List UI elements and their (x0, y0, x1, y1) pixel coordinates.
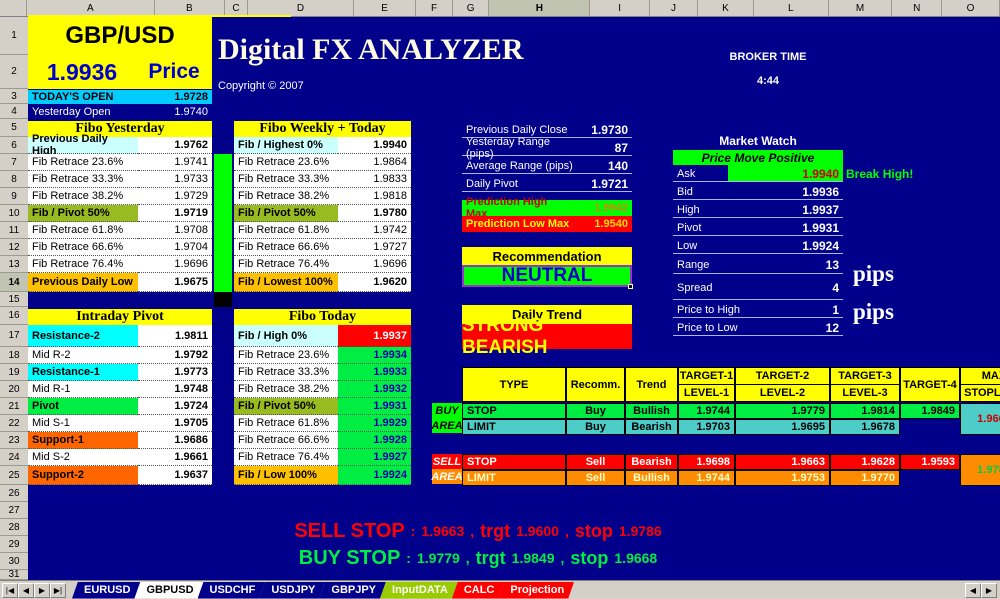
row-value: 1.9933 (338, 364, 411, 381)
sheet-tab-projection[interactable]: Projection (498, 582, 574, 599)
table-row: Pivot1.9931 (673, 219, 843, 236)
row-header-22[interactable]: 22 (0, 415, 28, 432)
row-header-12[interactable]: 12 (0, 239, 28, 256)
signal-cell (900, 419, 960, 435)
signal-cell: 1.9849 (900, 403, 960, 419)
col-header-O[interactable]: O (942, 0, 1000, 16)
signal-header-target3: TARGET-3 (830, 367, 900, 385)
row-label: Low (673, 237, 773, 254)
row-label: Ask (673, 165, 773, 182)
table-row: Fib / Lowest 100%1.9620 (234, 273, 411, 292)
row-label: Fib Retrace 66.6% (28, 239, 138, 256)
table-row: High1.9937 (673, 201, 843, 218)
row-header-11[interactable]: 11 (0, 222, 28, 239)
row-value: 1.9780 (338, 205, 411, 222)
todays-open-value: 1.9728 (138, 90, 212, 104)
signal-cell: Buy (566, 419, 625, 435)
row-header-19[interactable]: 19 (0, 364, 28, 381)
row-header-25[interactable]: 25 (0, 466, 28, 485)
col-header-G[interactable]: G (453, 0, 490, 16)
sell-area-label-line1: SELL (432, 454, 462, 469)
daily-trend-value: STRONG BEARISH (462, 324, 632, 349)
market-watch-banner: Price Move Positive (673, 150, 843, 165)
row-value: 1.9927 (338, 449, 411, 466)
col-header-E[interactable]: E (354, 0, 417, 16)
scroll-right-button[interactable]: ▶ (981, 583, 997, 598)
sheet-tab-gbpusd[interactable]: GBPUSD (134, 582, 203, 599)
row-value: 1.9931 (338, 398, 411, 415)
row-header-24[interactable]: 24 (0, 449, 28, 466)
table-row: Previous Daily Low1.9675 (28, 273, 212, 292)
table-row: Fib Retrace 33.3%1.9933 (234, 364, 411, 381)
row-label: Fib Retrace 61.8% (234, 415, 338, 432)
row-header-10[interactable]: 10 (0, 205, 28, 222)
row-value: 1.9637 (138, 466, 212, 485)
table-row: Fib Retrace 33.3%1.9733 (28, 171, 212, 188)
table-row: Fib / Pivot 50%1.9931 (234, 398, 411, 415)
row-header-5[interactable]: 5 (0, 119, 28, 137)
worksheet-grid[interactable]: GBP/USD 1.9936 Price Digital FX ANALYZER… (28, 17, 1000, 580)
row-header-27[interactable]: 27 (0, 502, 28, 519)
table-row: Low1.9924 (673, 237, 843, 254)
signal-cell: 1.9678 (830, 419, 900, 435)
selection-underline (28, 15, 291, 17)
row-header-23[interactable]: 23 (0, 432, 28, 449)
sell-target-price: 1.9600 (516, 523, 559, 539)
row-label: Fib Retrace 23.6% (28, 154, 138, 171)
prediction-high-value: 1.9942 (575, 200, 632, 216)
buy-target-price: 1.9849 (512, 550, 555, 566)
row-value: 1.9931 (773, 219, 843, 236)
row-label: Fib Retrace 38.2% (234, 188, 338, 205)
row-label: Support-1 (28, 432, 138, 449)
table-row: Support-11.9686 (28, 432, 212, 449)
row-value: 1.9705 (138, 415, 212, 432)
table-row: Fib Retrace 61.8%1.9929 (234, 415, 411, 432)
sell-comma-1: , (470, 523, 474, 539)
prediction-low-value: 1.9540 (575, 216, 632, 232)
table-row: Fib Retrace 66.6%1.9928 (234, 432, 411, 449)
row-header-1[interactable]: 1 (0, 17, 28, 55)
row-value: 1.9762 (138, 137, 212, 154)
signal-header-level1: LEVEL-1 (678, 385, 735, 402)
row-label: Fib Retrace 33.3% (234, 364, 338, 381)
broker-time-label: BROKER TIME (708, 49, 828, 65)
row-label: Fib Retrace 38.2% (28, 188, 138, 205)
sell-entry-price: 1.9663 (421, 523, 464, 539)
signal-cell: Bearish (625, 454, 678, 470)
table-row: Fib / Low 100%1.9924 (234, 466, 411, 485)
prediction-high-label: Prediction High Max (462, 200, 575, 216)
signal-header-level3: LEVEL-3 (830, 385, 900, 402)
signal-cell: Bullish (625, 403, 678, 419)
row-value: 1.9704 (138, 239, 212, 256)
row-header-16[interactable]: 16 (0, 307, 28, 325)
scroll-left-button[interactable]: ◀ (965, 583, 981, 598)
signal-cell: LIMIT (462, 470, 566, 486)
row-value: 1.9675 (138, 273, 212, 292)
signal-cell (900, 470, 960, 486)
tab-scroll-buttons: ◀ ▶ (965, 583, 1000, 598)
row-header-4[interactable]: 4 (0, 104, 28, 119)
row-header-18[interactable]: 18 (0, 347, 28, 364)
row-header-30[interactable]: 30 (0, 553, 28, 570)
market-watch-break-note: Break High! (846, 165, 936, 182)
row-value: 87 (577, 139, 632, 156)
row-label: Previous Daily High (28, 137, 138, 154)
sell-comma-2: , (565, 523, 569, 539)
table-row: Fib / Pivot 50%1.9780 (234, 205, 411, 222)
black-separator-cell (214, 292, 232, 307)
buy-stoploss-label: stop (570, 548, 608, 569)
row-value: 1.9940 (773, 165, 843, 182)
row-label: Fib Retrace 66.6% (234, 432, 338, 449)
selection-handle[interactable] (628, 284, 633, 289)
row-value: 1.9696 (138, 256, 212, 273)
row-header-31[interactable]: 31 (0, 570, 28, 580)
row-label: High (673, 201, 773, 218)
col-header-I[interactable]: I (590, 0, 650, 16)
row-value: 1.9818 (338, 188, 411, 205)
table-row: Fib / Highest 0%1.9940 (234, 137, 411, 154)
buy-comma-1: , (466, 550, 470, 566)
col-header-N[interactable]: N (892, 0, 942, 16)
signal-cell: 1.9814 (830, 403, 900, 419)
market-watch-title: Market Watch (673, 133, 843, 149)
row-value: 1.9620 (338, 273, 411, 292)
col-header-K[interactable]: K (698, 0, 754, 16)
signal-cell: Bearish (625, 419, 678, 435)
row-label: Fib Retrace 61.8% (234, 222, 338, 239)
sell-stoploss-label: stop (575, 521, 613, 542)
table-row: Fib Retrace 23.6%1.9741 (28, 154, 212, 171)
currency-pair-title: GBP/USD (28, 17, 212, 55)
buy-area-label-line2: AREA (432, 418, 462, 433)
buy-area-label-line1: BUY (432, 403, 462, 418)
row-label: Mid S-2 (28, 449, 138, 466)
buy-entry-price: 1.9779 (417, 550, 460, 566)
row-value: 1.9721 (577, 175, 632, 192)
row-label: Fib Retrace 76.4% (28, 256, 138, 273)
sell-stop-label: SELL STOP (294, 520, 404, 543)
col-header-F[interactable]: F (416, 0, 453, 16)
price-value: 1.9936 (32, 55, 132, 89)
table-row: Fib Retrace 66.6%1.9727 (234, 239, 411, 256)
row-label: Previous Daily Low (28, 273, 138, 292)
signal-header-level2: LEVEL-2 (735, 385, 830, 402)
table-row: Fib Retrace 76.4%1.9927 (234, 449, 411, 466)
fibo-weekly-title: Fibo Weekly + Today (234, 121, 411, 137)
row-value: 1.9864 (338, 154, 411, 171)
table-row: Mid S-21.9661 (28, 449, 212, 466)
recommendation-title: Recommendation (462, 247, 632, 265)
table-row: Mid S-11.9705 (28, 415, 212, 432)
tab-nav-buttons: |◀ ◀ ▶ ▶| (0, 583, 66, 598)
buy-comma-2: , (561, 550, 565, 566)
table-row: Average Range (pips)140 (462, 157, 632, 174)
row-header-14[interactable]: 14 (0, 273, 28, 292)
row-label: Fib / Lowest 100% (234, 273, 338, 292)
row-label: Fib Retrace 33.3% (28, 171, 138, 188)
signal-header-trend: Trend (625, 367, 678, 402)
row-label: Mid S-1 (28, 415, 138, 432)
table-row: Price to High1 (673, 301, 843, 318)
table-row: Previous Daily High1.9762 (28, 137, 212, 154)
sheet-tab-gbpjpy[interactable]: GBPJPY (319, 582, 386, 599)
buy-stop-summary: BUY STOP:1.9779,trgt1.9849,stop1.9668 (228, 546, 728, 570)
first-sheet-button[interactable]: |◀ (2, 583, 18, 598)
row-label: Fib Retrace 66.6% (234, 239, 338, 256)
table-row: Fib Retrace 38.2%1.9818 (234, 188, 411, 205)
row-value: 1.9929 (338, 415, 411, 432)
pips-label-price: pips (853, 299, 894, 325)
row-label: Support-2 (28, 466, 138, 485)
row-header-20[interactable]: 20 (0, 381, 28, 398)
row-label: Pivot (28, 398, 138, 415)
row-value: 1.9937 (338, 325, 411, 347)
select-all-corner[interactable] (0, 0, 27, 16)
row-value: 12 (773, 319, 843, 336)
row-label: Range (673, 255, 773, 274)
table-row: Daily Pivot1.9721 (462, 175, 632, 192)
row-value: 1.9741 (138, 154, 212, 171)
table-row: Fib Retrace 38.2%1.9729 (28, 188, 212, 205)
row-label: Fib Retrace 23.6% (234, 154, 338, 171)
table-row: Fib Retrace 38.2%1.9932 (234, 381, 411, 398)
table-row: Fib Retrace 23.6%1.9934 (234, 347, 411, 364)
signal-cell: Bullish (625, 470, 678, 486)
row-value: 1.9708 (138, 222, 212, 239)
table-row: Yesterday Range (pips)87 (462, 139, 632, 156)
row-value: 1.9686 (138, 432, 212, 449)
row-header-21[interactable]: 21 (0, 398, 28, 415)
row-header-2[interactable]: 2 (0, 55, 28, 89)
row-value: 1.9727 (338, 239, 411, 256)
col-header-D[interactable]: D (248, 0, 354, 16)
row-value: 1.9730 (577, 121, 632, 138)
sell-stoploss-price: 1.9786 (619, 523, 662, 539)
col-header-M[interactable]: M (829, 0, 892, 16)
yesterday-open-value: 1.9740 (138, 105, 212, 119)
row-header-29[interactable]: 29 (0, 536, 28, 553)
signal-cell: 1.9593 (900, 454, 960, 470)
todays-open-label: TODAY'S OPEN (28, 90, 138, 104)
row-value: 1.9928 (338, 432, 411, 449)
table-row: Bid1.9936 (673, 183, 843, 200)
row-label: Fib Retrace 23.6% (234, 347, 338, 364)
table-row: Fib Retrace 61.8%1.9708 (28, 222, 212, 239)
row-label: Price to Low (673, 319, 773, 336)
row-value: 13 (773, 255, 843, 274)
pips-label-range: pips (853, 261, 894, 287)
row-header-17[interactable]: 17 (0, 325, 28, 347)
row-value: 1.9924 (773, 237, 843, 254)
signal-cell: 1.9695 (735, 419, 830, 435)
signal-cell: STOP (462, 403, 566, 419)
table-row: Fib Retrace 76.4%1.9696 (28, 256, 212, 273)
col-header-H[interactable]: H (489, 0, 590, 16)
sell-colon: : (411, 523, 416, 539)
row-label: Fib Retrace 76.4% (234, 449, 338, 466)
row-value: 1.9940 (338, 137, 411, 154)
row-label: Bid (673, 183, 773, 200)
row-value: 1.9729 (138, 188, 212, 205)
row-value: 1.9924 (338, 466, 411, 485)
table-row: Range13 (673, 255, 843, 274)
row-header-26[interactable]: 26 (0, 485, 28, 502)
sheet-tab-usdchf[interactable]: USDCHF (198, 582, 266, 599)
row-value: 1.9792 (138, 347, 212, 364)
signal-header-stoploss: STOPLOSS (960, 385, 1000, 402)
sell-stop-summary: SELL STOP:1.9663,trgt1.9600,stop1.9786 (228, 519, 728, 543)
prediction-low-label: Prediction Low Max (462, 216, 575, 232)
row-value: 1.9932 (338, 381, 411, 398)
table-row: Ask1.9940 (673, 165, 843, 182)
row-value: 1.9833 (338, 171, 411, 188)
table-row: Fib Retrace 33.3%1.9833 (234, 171, 411, 188)
signal-header-type: TYPE (462, 367, 566, 402)
table-row: Fib / Pivot 50%1.9719 (28, 205, 212, 222)
intraday-pivot-title: Intraday Pivot (28, 309, 212, 325)
row-value: 1.9696 (338, 256, 411, 273)
row-value: 1.9936 (773, 183, 843, 200)
row-header-28[interactable]: 28 (0, 519, 28, 536)
col-header-B[interactable]: B (155, 0, 225, 16)
table-row: Fib Retrace 23.6%1.9864 (234, 154, 411, 171)
sheet-tabs: EURUSDGBPUSDUSDCHFUSDJPYGBPJPYInputDATAC… (72, 582, 568, 599)
row-label: Yesterday Range (pips) (462, 139, 577, 156)
row-label: Spread (673, 275, 773, 300)
signal-cell: Sell (566, 454, 625, 470)
row-label: Fib Retrace 38.2% (234, 381, 338, 398)
row-label: Mid R-2 (28, 347, 138, 364)
prev-sheet-button[interactable]: ◀ (18, 583, 34, 598)
table-row: Fib Retrace 61.8%1.9742 (234, 222, 411, 239)
signal-cell: LIMIT (462, 419, 566, 435)
row-header-15[interactable]: 15 (0, 292, 28, 307)
signal-cell: 1.9770 (830, 470, 900, 486)
sheet-tab-calc[interactable]: CALC (452, 582, 505, 599)
row-value: 1.9661 (138, 449, 212, 466)
buy-target-label: trgt (476, 548, 506, 569)
row-label: Average Range (pips) (462, 157, 577, 174)
excel-window: A B C D E F G H I J K L M N O 1 2 3 4 5 … (0, 0, 1000, 599)
row-label: Mid R-1 (28, 381, 138, 398)
table-row: Price to Low12 (673, 319, 843, 336)
row-header-9[interactable]: 9 (0, 188, 28, 205)
row-label: Fib Retrace 76.4% (234, 256, 338, 273)
buy-stop-label: BUY STOP (299, 547, 401, 570)
row-label: Fib Retrace 33.3% (234, 171, 338, 188)
row-header-column: 1 2 3 4 5 6 7 8 9 10 11 12 13 14 15 16 1… (0, 17, 28, 580)
row-value: 4 (773, 275, 843, 300)
max-stoploss-value: 1.9786 (960, 454, 1000, 486)
row-value: 1.9937 (773, 201, 843, 218)
sell-area-label-line2: AREA (432, 469, 462, 484)
table-row: Fib Retrace 66.6%1.9704 (28, 239, 212, 256)
price-label: Price (138, 55, 210, 89)
signal-header-target4: TARGET-4 (900, 367, 960, 402)
row-value: 1.9742 (338, 222, 411, 239)
signal-cell: 1.9744 (678, 470, 735, 486)
row-value: 140 (577, 157, 632, 174)
signal-header-target1: TARGET-1 (678, 367, 735, 385)
row-value: 1.9934 (338, 347, 411, 364)
row-label: Price to High (673, 301, 773, 318)
table-row: Spread4 (673, 275, 843, 300)
recommendation-value[interactable]: NEUTRAL (462, 265, 632, 287)
row-value: 1.9719 (138, 205, 212, 222)
col-header-L[interactable]: L (754, 0, 829, 16)
table-row: Fib Retrace 76.4%1.9696 (234, 256, 411, 273)
buy-colon: : (406, 550, 411, 566)
app-title: Digital FX ANALYZER (218, 33, 524, 67)
signal-cell: 1.9628 (830, 454, 900, 470)
row-header-13[interactable]: 13 (0, 256, 28, 273)
buy-stoploss-price: 1.9668 (614, 550, 657, 566)
sheet-tab-inputdata[interactable]: InputDATA (380, 582, 458, 599)
row-label: Fib / Low 100% (234, 466, 338, 485)
table-row: Pivot1.9724 (28, 398, 212, 415)
signal-cell: 1.9703 (678, 419, 735, 435)
row-value: 1.9724 (138, 398, 212, 415)
row-label: Fib Retrace 61.8% (28, 222, 138, 239)
col-header-C[interactable]: C (225, 0, 248, 16)
row-value: 1.9748 (138, 381, 212, 398)
row-value: 1.9773 (138, 364, 212, 381)
sheet-tab-usdjpy[interactable]: USDJPY (259, 582, 325, 599)
row-label: Fib / Pivot 50% (28, 205, 138, 222)
last-sheet-button[interactable]: ▶| (50, 583, 66, 598)
green-separator-strip (214, 154, 232, 292)
row-value: 1.9733 (138, 171, 212, 188)
copyright-text: Copyright © 2007 (218, 77, 418, 95)
row-value: 1.9811 (138, 325, 212, 347)
row-header-3[interactable]: 3 (0, 89, 28, 104)
signal-cell: 1.9779 (735, 403, 830, 419)
sheet-tab-eurusd[interactable]: EURUSD (72, 582, 140, 599)
row-label: Pivot (673, 219, 773, 236)
row-label: Fib / Highest 0% (234, 137, 338, 154)
max-stoploss-value: 1.9668 (960, 403, 1000, 435)
broker-time-value: 4:44 (708, 73, 828, 89)
row-label: Fib / High 0% (234, 325, 338, 347)
row-label: Resistance-2 (28, 325, 138, 347)
row-label: Daily Pivot (462, 175, 577, 192)
table-row: Fib / High 0%1.9937 (234, 325, 411, 347)
table-row: Mid R-21.9792 (28, 347, 212, 364)
row-label: Fib / Pivot 50% (234, 398, 338, 415)
table-row: Resistance-11.9773 (28, 364, 212, 381)
row-header-8[interactable]: 8 (0, 171, 28, 188)
sell-target-label: trgt (480, 521, 510, 542)
sheet-tab-bar: |◀ ◀ ▶ ▶| EURUSDGBPUSDUSDCHFUSDJPYGBPJPY… (0, 580, 1000, 599)
signal-cell: Sell (566, 470, 625, 486)
signal-header-max: MAX (960, 367, 1000, 385)
signal-cell: Buy (566, 403, 625, 419)
next-sheet-button[interactable]: ▶ (34, 583, 50, 598)
row-header-6[interactable]: 6 (0, 137, 28, 154)
col-header-A[interactable]: A (27, 0, 155, 16)
row-label: Resistance-1 (28, 364, 138, 381)
signal-cell: 1.9753 (735, 470, 830, 486)
table-row: Resistance-21.9811 (28, 325, 212, 347)
row-header-7[interactable]: 7 (0, 154, 28, 171)
fibo-today-title: Fibo Today (234, 309, 411, 325)
col-header-J[interactable]: J (650, 0, 698, 16)
table-row: Mid R-11.9748 (28, 381, 212, 398)
row-label: Fib / Pivot 50% (234, 205, 338, 222)
